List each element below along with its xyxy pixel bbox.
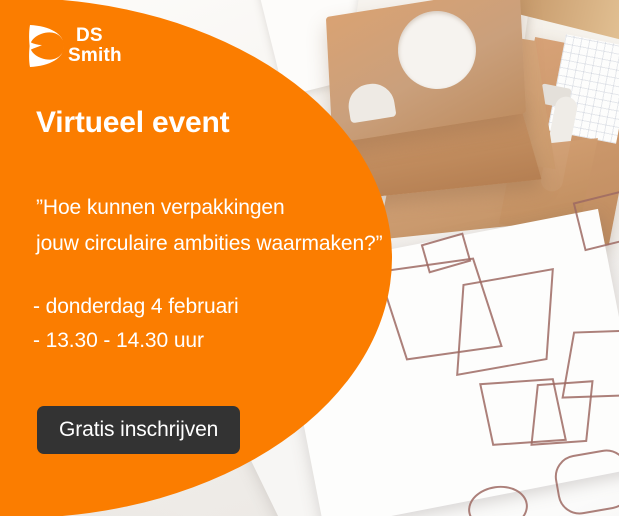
quote-line-1: ”Hoe kunnen verpakkingen	[36, 190, 383, 226]
event-date: - donderdag 4 februari	[33, 290, 239, 324]
ds-smith-logo[interactable]: DS Smith	[24, 22, 134, 78]
page-title: Virtueel event	[36, 106, 229, 140]
register-button[interactable]: Gratis inschrijven	[37, 406, 240, 454]
event-question-quote: ”Hoe kunnen verpakkingen jouw circulaire…	[36, 190, 383, 262]
quote-line-2: jouw circulaire ambities waarmaken?”	[36, 226, 383, 262]
ds-smith-leaf-logo-icon	[24, 22, 70, 70]
event-details: - donderdag 4 februari - 13.30 - 14.30 u…	[33, 290, 239, 358]
logo-text-smith: Smith	[68, 46, 122, 65]
logo-text-ds: DS	[76, 26, 122, 45]
ds-smith-wordmark: DS Smith	[68, 26, 122, 65]
virtueel-event-banner: DS Smith Virtueel event ”Hoe kunnen verp…	[0, 0, 619, 516]
banner-content: DS Smith Virtueel event ”Hoe kunnen verp…	[0, 0, 420, 516]
event-time: - 13.30 - 14.30 uur	[33, 324, 239, 358]
